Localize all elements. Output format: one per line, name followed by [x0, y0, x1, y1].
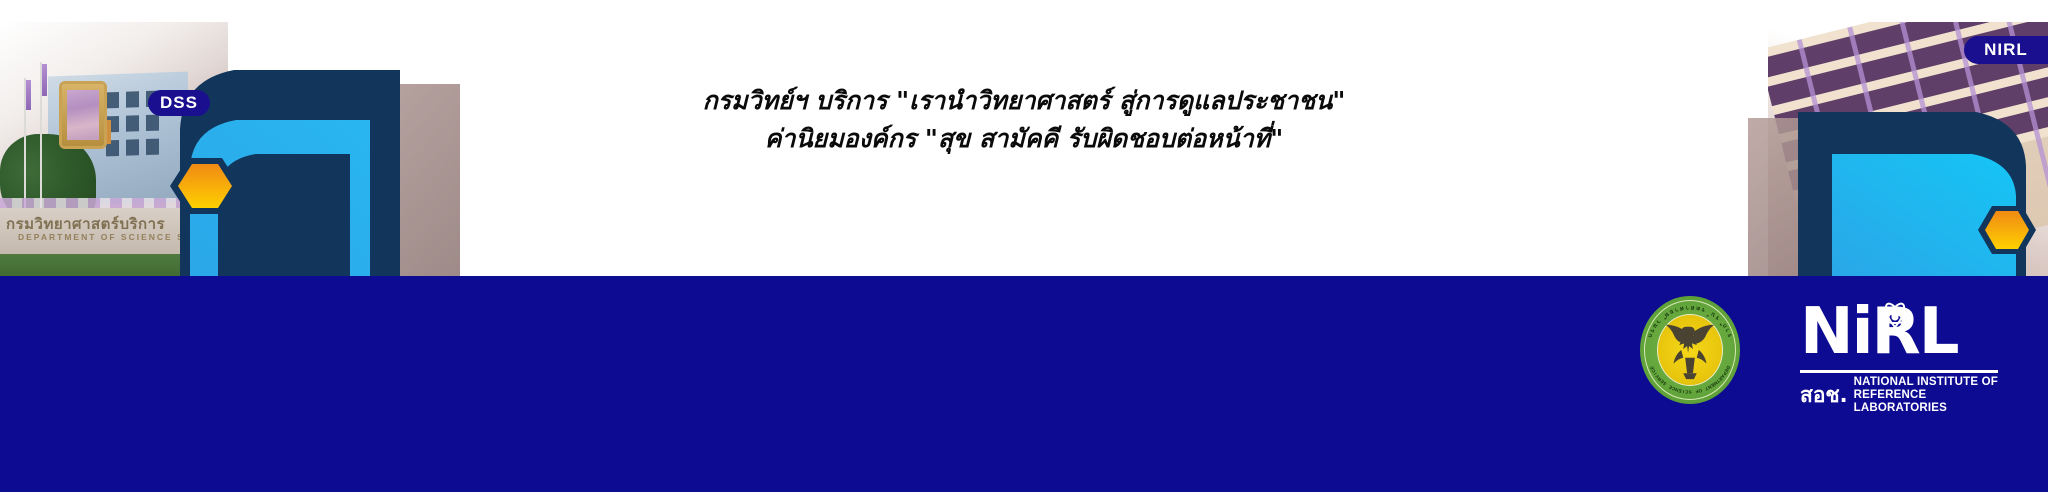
nirl-letter-i: i — [1852, 295, 1872, 369]
nirl-thai-abbr: สอช. — [1800, 385, 1848, 406]
banner-stage: กรมวิทยาศาสตร์บริการ DEPARTMENT OF SCIEN… — [0, 0, 2048, 276]
dss-seal-logo: กรมวิทยาศาสตร์บริการ DEPARTMENT OF SCIEN… — [1640, 296, 1740, 404]
left-geometric-overlay — [160, 0, 460, 276]
banner: กรมวิทยาศาสตร์บริการ DEPARTMENT OF SCIEN… — [0, 0, 2048, 492]
nirl-english-name: NATIONAL INSTITUTE OF REFERENCE LABORATO… — [1854, 376, 2000, 415]
nirl-letter-n: N — [1800, 295, 1852, 369]
nirl-divider-rule — [1800, 370, 1998, 373]
seal-center-disc — [1657, 314, 1723, 386]
royal-portrait — [67, 90, 99, 140]
dss-badge[interactable]: DSS — [148, 90, 210, 116]
bottom-blue-band — [0, 276, 2048, 492]
nirl-badge[interactable]: NIRL — [1964, 36, 2048, 64]
garuda-emblem — [1658, 315, 1722, 385]
nirl-wordmark: NiRL — [1800, 300, 2000, 368]
atom-icon — [1878, 302, 1912, 332]
nirl-english-line-2: REFERENCE LABORATORIES — [1854, 389, 2000, 415]
nirl-logo: NiRL สอช. NATIONAL INSTITUTE OF REFERENC… — [1800, 300, 2000, 408]
royal-portrait-frame — [62, 84, 104, 146]
nirl-subtitle: สอช. NATIONAL INSTITUTE OF REFERENCE LAB… — [1800, 376, 2000, 415]
nirl-english-line-1: NATIONAL INSTITUTE OF — [1854, 376, 2000, 389]
